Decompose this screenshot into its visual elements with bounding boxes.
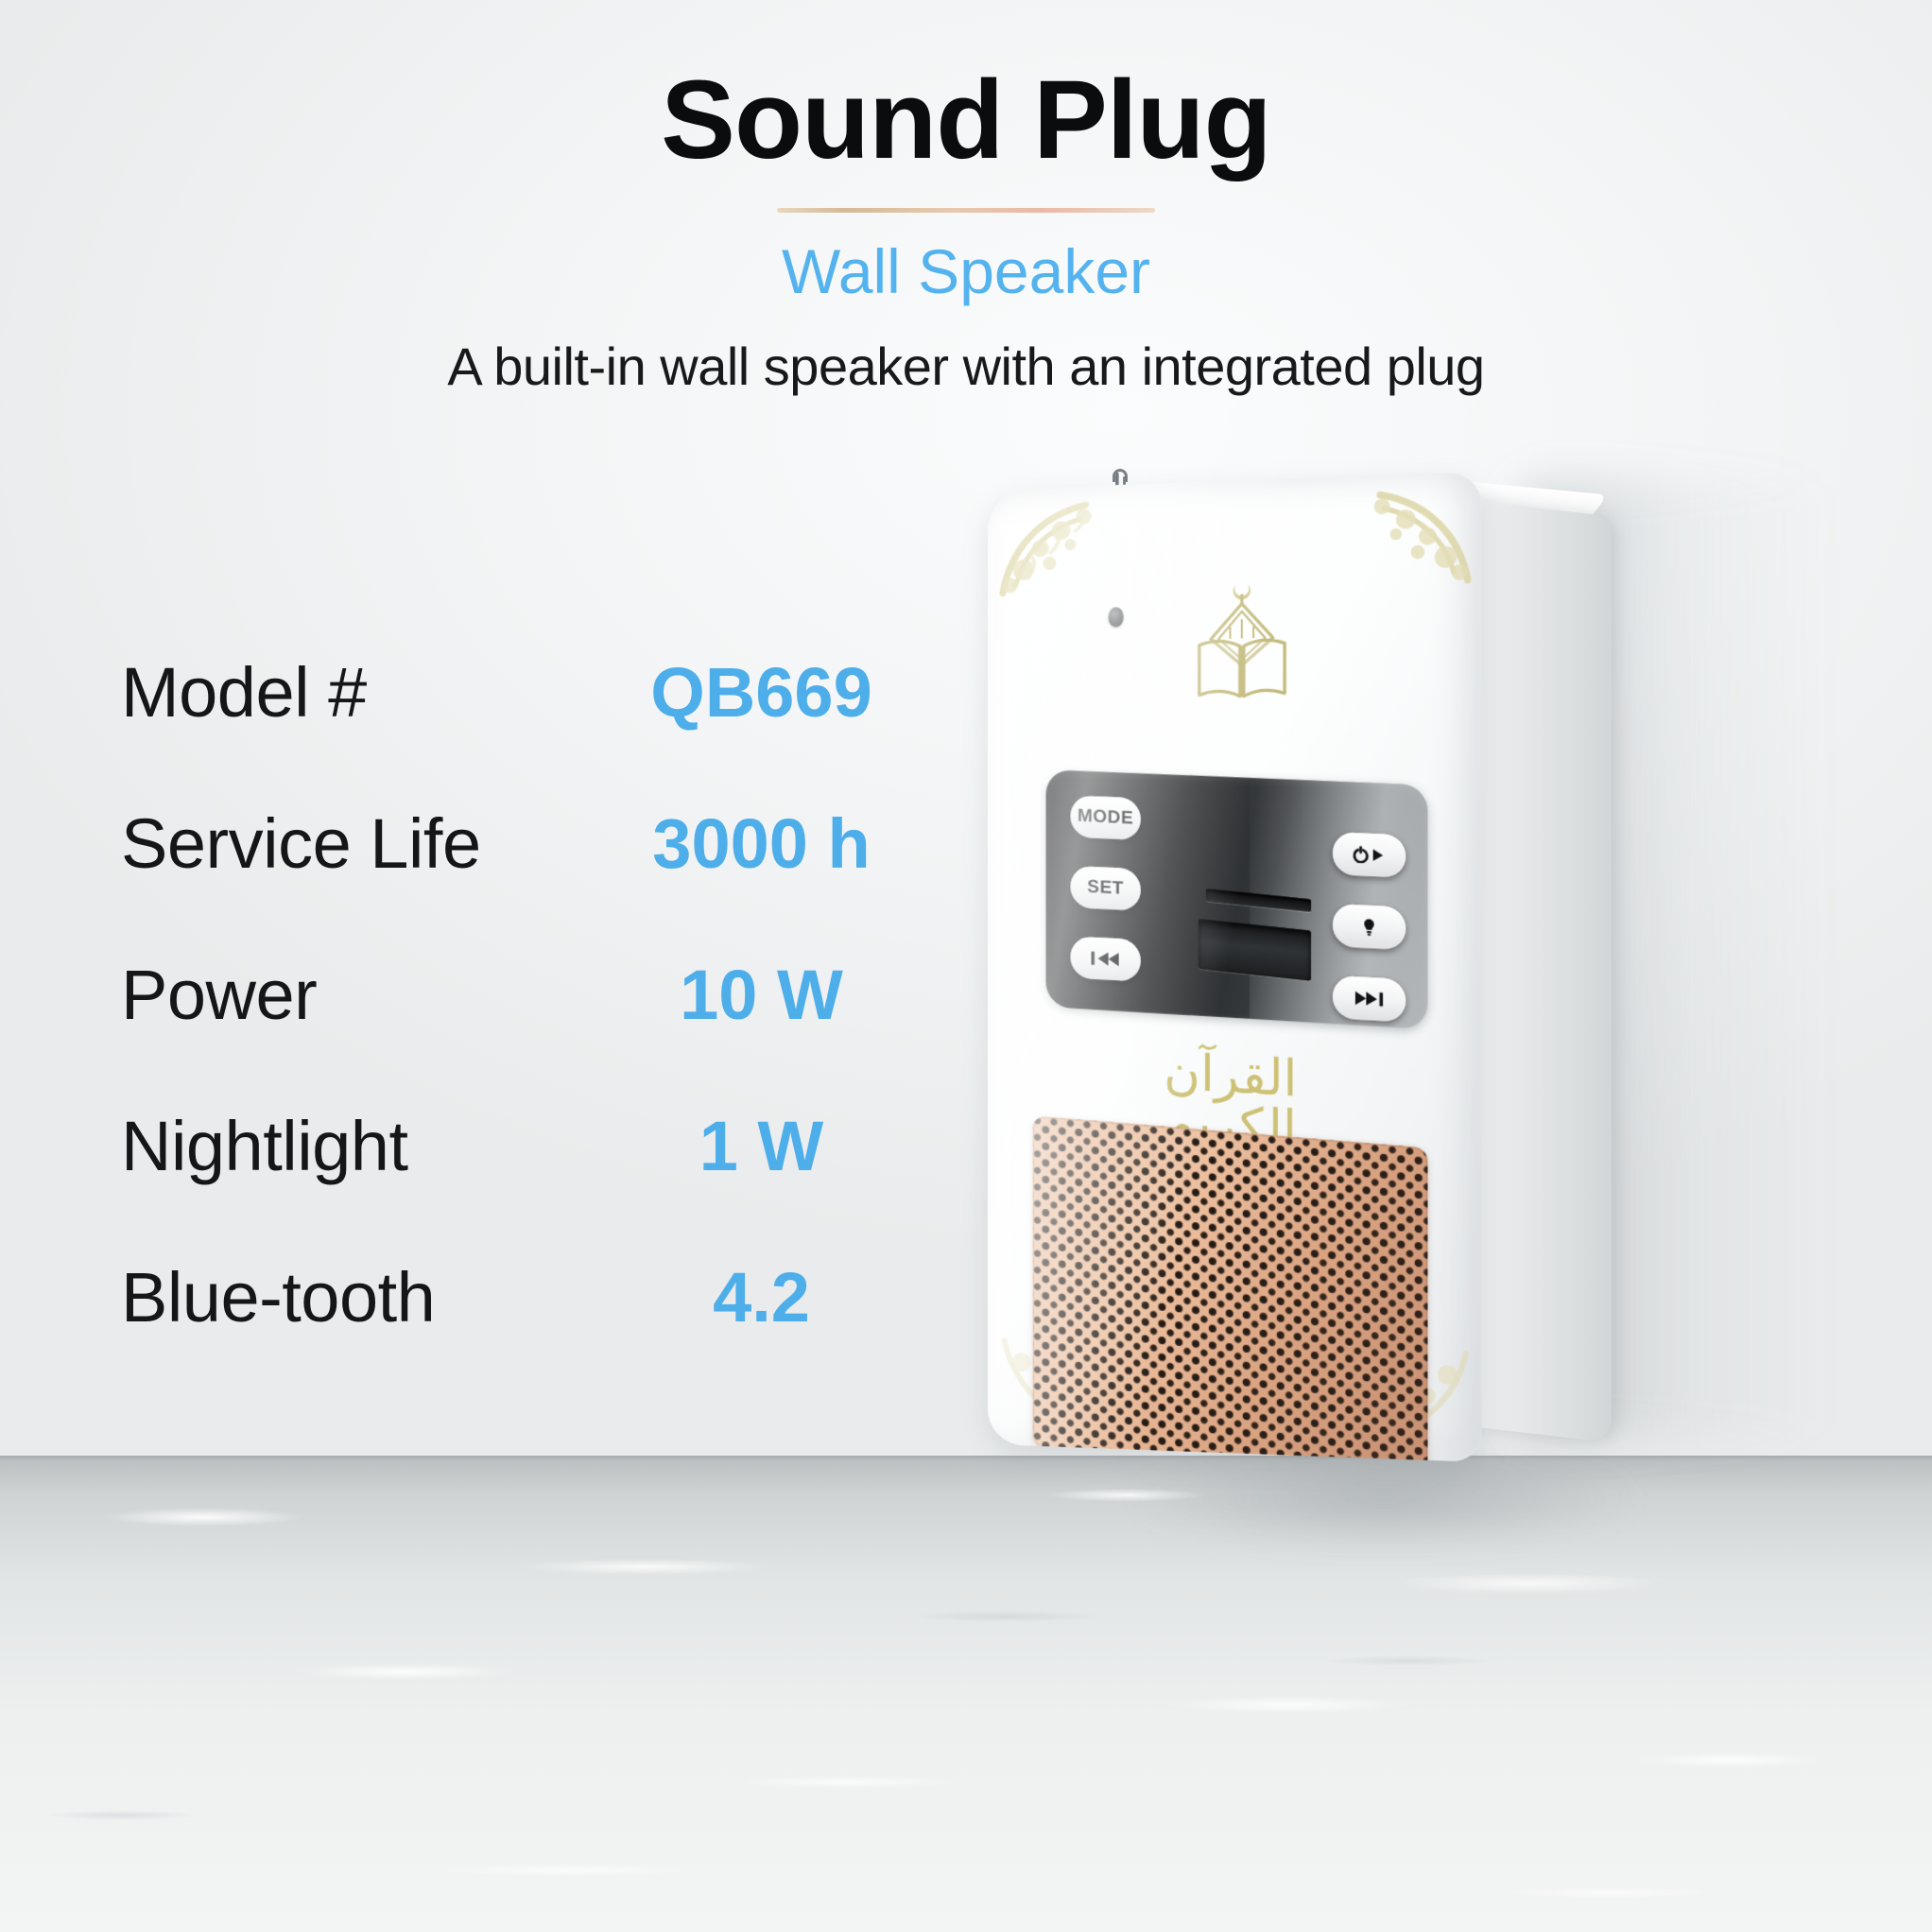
page-tagline: A built-in wall speaker with an integrat… <box>0 336 1932 397</box>
spec-value-bluetooth: 4.2 <box>617 1257 906 1337</box>
spec-value-model: QB669 <box>617 652 906 733</box>
device-front-face: MODE SET <box>988 472 1482 1462</box>
filigree-ornament-icon <box>1327 477 1476 599</box>
grille-shading <box>1033 1115 1428 1462</box>
spec-label-model: Model # <box>121 652 617 733</box>
spec-label-bluetooth: Blue-tooth <box>121 1257 617 1337</box>
next-track-button[interactable] <box>1333 975 1406 1023</box>
spec-value-service-life: 3000 h <box>617 803 906 884</box>
page-title: Sound Plug <box>0 64 1932 176</box>
filigree-ornament-icon <box>995 490 1137 608</box>
next-track-icon <box>1353 989 1387 1009</box>
set-button[interactable]: SET <box>1070 866 1140 911</box>
spec-row-power: Power 10 W <box>121 955 906 1106</box>
previous-track-button[interactable] <box>1070 936 1140 982</box>
speaker-grille <box>1033 1115 1428 1462</box>
power-play-icon <box>1352 845 1388 864</box>
product-image: MODE SET <box>988 444 1895 1635</box>
header-block: Sound Plug Wall Speaker A built-in wall … <box>0 0 1932 397</box>
previous-track-icon <box>1089 949 1121 968</box>
lamp-icon <box>1358 916 1380 939</box>
control-panel: MODE SET <box>1046 769 1428 1029</box>
device-side-face <box>1460 499 1612 1442</box>
power-play-button[interactable] <box>1333 832 1406 878</box>
spec-row-nightlight: Nightlight 1 W <box>121 1106 906 1257</box>
spec-row-service-life: Service Life 3000 h <box>121 803 906 955</box>
spec-value-power: 10 W <box>617 955 906 1035</box>
poster-canvas: Sound Plug Wall Speaker A built-in wall … <box>0 0 1932 1932</box>
mode-button[interactable]: MODE <box>1070 795 1140 840</box>
title-divider <box>777 208 1155 213</box>
spec-value-nightlight: 1 W <box>617 1106 906 1186</box>
usb-port-slot[interactable] <box>1199 919 1311 981</box>
quran-emblem-icon <box>1184 567 1301 705</box>
page-subtitle: Wall Speaker <box>0 235 1932 307</box>
spec-row-model: Model # QB669 <box>121 652 906 803</box>
spec-label-nightlight: Nightlight <box>121 1106 617 1186</box>
spec-label-service-life: Service Life <box>121 803 617 884</box>
led-indicator-icon <box>1109 607 1124 628</box>
nightlight-button[interactable] <box>1333 904 1406 950</box>
spec-row-bluetooth: Blue-tooth 4.2 <box>121 1257 906 1408</box>
spec-label-power: Power <box>121 955 617 1035</box>
specification-list: Model # QB669 Service Life 3000 h Power … <box>121 652 906 1408</box>
